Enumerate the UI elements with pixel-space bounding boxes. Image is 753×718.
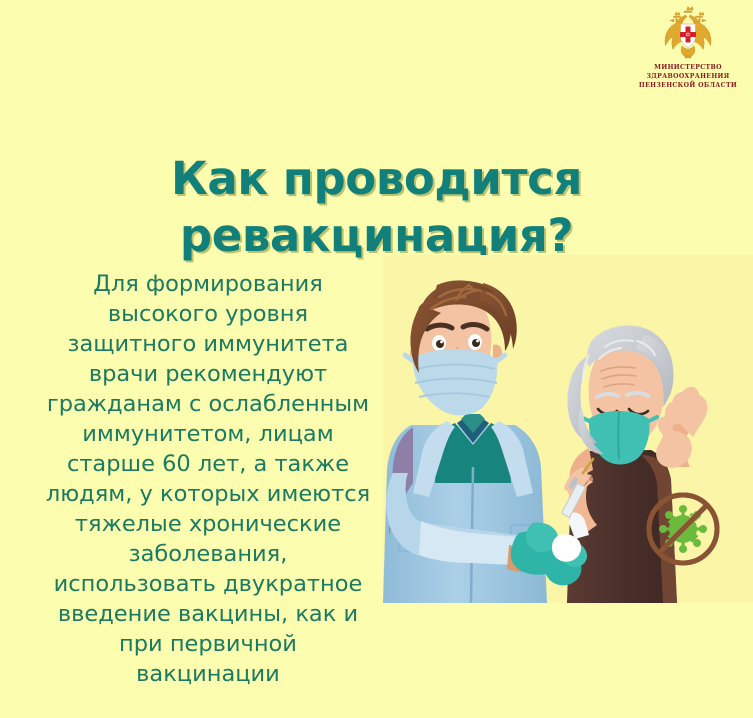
ministry-caption: МИНИСТЕРСТВО ЗДРАВООХРАНЕНИЯ ПЕНЗЕНСКОЙ …	[629, 63, 747, 91]
vaccination-info-poster: МИНИСТЕРСТВО ЗДРАВООХРАНЕНИЯ ПЕНЗЕНСКОЙ …	[0, 0, 753, 718]
russian-double-headed-eagle-with-red-cross-emblem	[657, 4, 719, 60]
doctor-vaccinating-elderly-woman-illustration	[383, 255, 753, 603]
ministry-logo: МИНИСТЕРСТВО ЗДРАВООХРАНЕНИЯ ПЕНЗЕНСКОЙ …	[629, 4, 747, 91]
no-virus-badge	[649, 495, 717, 563]
body-text: Для формирования высокого уровня защитно…	[22, 269, 394, 689]
page-title: Как проводится ревакцинация?	[0, 150, 753, 264]
